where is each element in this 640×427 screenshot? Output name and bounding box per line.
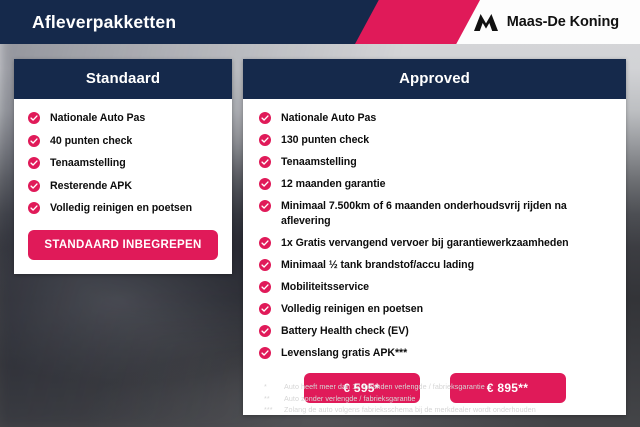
footnote-marker: ** (264, 393, 284, 405)
package-card-standaard: Standaard Nationale Auto Pas 40 punten c… (14, 59, 232, 274)
footnote-marker: * (264, 381, 284, 393)
check-circle-icon (259, 347, 271, 359)
feature-text: Tenaamstelling (50, 157, 126, 169)
feature-text: 130 punten check (281, 134, 369, 146)
list-item: 130 punten check (259, 133, 610, 148)
feature-text: Battery Health check (EV) (281, 325, 409, 337)
check-circle-icon (259, 200, 271, 212)
page-title: Afleverpakketten (32, 0, 176, 44)
list-item: Levenslang gratis APK*** (259, 346, 610, 361)
feature-text: Minimaal ½ tank brandstof/accu lading (281, 259, 474, 271)
feature-text: Volledig reinigen en poetsen (281, 303, 423, 315)
feature-text: Volledig reinigen en poetsen (50, 202, 192, 214)
footnote-3: *** Zolang de auto volgens fabrieksschem… (264, 404, 624, 416)
feature-list-standaard: Nationale Auto Pas 40 punten check Tenaa… (28, 111, 218, 216)
package-title-approved: Approved (243, 59, 626, 99)
list-item: 12 maanden garantie (259, 177, 610, 192)
check-circle-icon (259, 259, 271, 271)
footnotes: * Auto heeft meer dan 12 maanden verleng… (264, 381, 624, 416)
check-circle-icon (259, 237, 271, 249)
feature-text: 40 punten check (50, 135, 132, 147)
check-circle-icon (259, 281, 271, 293)
feature-text: Nationale Auto Pas (281, 112, 376, 124)
check-circle-icon (28, 135, 40, 147)
list-item: Nationale Auto Pas (259, 111, 610, 126)
check-circle-icon (259, 112, 271, 124)
check-circle-icon (28, 112, 40, 124)
afleverpakketten-page: Afleverpakketten Maas-De Koning Standaar… (0, 0, 640, 427)
list-item: Battery Health check (EV) (259, 324, 610, 339)
check-circle-icon (28, 180, 40, 192)
list-item: Minimaal 7.500km of 6 maanden onderhouds… (259, 199, 610, 229)
package-body-approved: Nationale Auto Pas 130 punten check Tena… (243, 99, 626, 415)
footnote-2: ** Auto zonder verlengde / fabrieksgaran… (264, 393, 624, 405)
feature-text: 12 maanden garantie (281, 178, 385, 190)
feature-list-approved: Nationale Auto Pas 130 punten check Tena… (259, 111, 610, 361)
feature-text: Mobiliteitsservice (281, 281, 369, 293)
package-card-approved: Approved Nationale Auto Pas 130 punten c… (243, 59, 626, 415)
brand-name: Maas-De Koning (507, 14, 619, 30)
feature-text: Nationale Auto Pas (50, 112, 145, 124)
package-title-standaard: Standaard (14, 59, 232, 99)
list-item: Tenaamstelling (28, 156, 218, 171)
check-circle-icon (259, 178, 271, 190)
footnote-text: Auto heeft meer dan 12 maanden verlengde… (284, 381, 485, 393)
list-item: Minimaal ½ tank brandstof/accu lading (259, 258, 610, 273)
list-item: Tenaamstelling (259, 155, 610, 170)
footnote-text: Zolang de auto volgens fabrieksschema bi… (284, 404, 536, 416)
feature-text: Tenaamstelling (281, 156, 357, 168)
list-item: 40 punten check (28, 134, 218, 149)
list-item: Volledig reinigen en poetsen (28, 201, 218, 216)
list-item: 1x Gratis vervangend vervoer bij garanti… (259, 236, 610, 251)
package-body-standaard: Nationale Auto Pas 40 punten check Tenaa… (14, 99, 232, 274)
feature-text: Levenslang gratis APK*** (281, 347, 407, 359)
maas-de-koning-m-logo-icon (472, 13, 500, 32)
footnote-marker: *** (264, 404, 284, 416)
check-circle-icon (28, 157, 40, 169)
standaard-inbegrepen-button[interactable]: STANDAARD INBEGREPEN (28, 230, 218, 260)
footnote-text: Auto zonder verlengde / fabrieksgarantie (284, 393, 415, 405)
list-item: Resterende APK (28, 179, 218, 194)
feature-text: 1x Gratis vervangend vervoer bij garanti… (281, 237, 569, 249)
check-circle-icon (259, 303, 271, 315)
check-circle-icon (259, 325, 271, 337)
check-circle-icon (259, 134, 271, 146)
check-circle-icon (28, 202, 40, 214)
check-circle-icon (259, 156, 271, 168)
footnote-1: * Auto heeft meer dan 12 maanden verleng… (264, 381, 624, 393)
list-item: Nationale Auto Pas (28, 111, 218, 126)
feature-text: Resterende APK (50, 180, 132, 192)
feature-text: Minimaal 7.500km of 6 maanden onderhouds… (281, 200, 567, 227)
list-item: Volledig reinigen en poetsen (259, 302, 610, 317)
page-header: Afleverpakketten Maas-De Koning (0, 0, 640, 44)
brand-logo: Maas-De Koning (472, 0, 619, 44)
list-item: Mobiliteitsservice (259, 280, 610, 295)
